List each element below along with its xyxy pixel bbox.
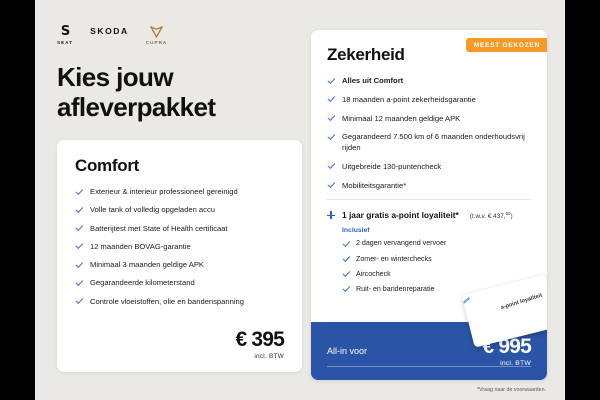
list-item: 18 maanden a-point zekerheidsgarantie — [327, 95, 531, 106]
check-icon — [75, 279, 83, 287]
logo-seat: S SEAT — [57, 25, 73, 45]
feature-text: Batterijtest met State of Health certifi… — [90, 224, 228, 235]
check-icon — [342, 271, 350, 279]
list-item: Mobiliteitsgarantie* — [327, 181, 531, 192]
list-item: Controle vloeistoffen, olie en bandenspa… — [75, 297, 284, 308]
letterbox-left — [0, 0, 35, 400]
logo-skoda: SKODA — [90, 25, 129, 38]
feature-text: 18 maanden a-point zekerheidsgarantie — [342, 95, 476, 106]
comfort-price-block: € 395 incl. BTW — [235, 329, 284, 360]
package-card-comfort[interactable]: Comfort Exterieur & interieur profession… — [57, 140, 302, 372]
status-badge: MEEST GEKOZEN — [466, 38, 547, 52]
plus-icon — [327, 211, 335, 219]
check-icon — [75, 298, 83, 306]
check-icon — [327, 133, 335, 141]
comfort-price: € 395 — [235, 329, 284, 350]
feature-text: Gegarandeerd 7.500 km of 6 maanden onder… — [342, 132, 531, 154]
skoda-mark-icon: SKODA — [90, 25, 129, 38]
check-icon — [327, 115, 335, 123]
feature-text: 2 dagen vervangend vervoer — [356, 239, 446, 249]
check-icon — [75, 243, 83, 251]
list-item: Zomer- en winterchecks — [342, 255, 531, 265]
feature-text: Exterieur & interieur professioneel gere… — [90, 187, 238, 198]
check-icon — [75, 188, 83, 196]
list-item: Alles uit Comfort — [327, 76, 531, 87]
list-item: 2 dagen vervangend vervoer — [342, 239, 531, 249]
feature-text: Minimaal 12 maanden geldige APK — [342, 114, 460, 125]
allin-price-note: incl. BTW — [482, 360, 531, 367]
logo-seat-label: SEAT — [57, 40, 73, 45]
seat-mark-icon: S — [61, 25, 69, 38]
feature-text: Gegarandeerde kilometerstand — [90, 278, 195, 289]
brand-logo-row: S SEAT SKODA CUPRA — [57, 25, 167, 45]
section-divider — [327, 199, 531, 200]
list-item: Volle tank of volledig opgeladen accu — [75, 205, 284, 216]
feature-text: 12 maanden BOVAG-garantie — [90, 242, 191, 253]
feature-text: Aircocheck — [356, 270, 391, 280]
cupra-mark-icon — [150, 25, 163, 38]
allin-label: All-in voor — [327, 346, 367, 356]
check-icon — [75, 225, 83, 233]
comfort-title: Comfort — [75, 156, 284, 176]
feature-text: Mobiliteitsgarantie* — [342, 181, 406, 192]
check-icon — [75, 261, 83, 269]
list-item: 12 maanden BOVAG-garantie — [75, 242, 284, 253]
page-title: Kies jouw afleverpakket — [57, 62, 307, 122]
feature-text: Alles uit Comfort — [342, 76, 403, 87]
feature-text: Controle vloeistoffen, olie en bandenspa… — [90, 297, 244, 308]
feature-text: Volle tank of volledig opgeladen accu — [90, 205, 215, 216]
list-item: Uitgebreide 130-puntencheck — [327, 162, 531, 173]
list-item: Aircocheck — [342, 270, 531, 280]
feature-text: Zomer- en winterchecks — [356, 255, 432, 265]
package-card-zekerheid[interactable]: MEEST GEKOZEN Zekerheid Alles uit Comfor… — [311, 30, 547, 380]
comfort-price-note: incl. BTW — [235, 353, 284, 360]
list-item: Gegarandeerde kilometerstand — [75, 278, 284, 289]
zekerheid-feature-list: Alles uit Comfort 18 maanden a-point zek… — [327, 76, 531, 191]
logo-cupra: CUPRA — [146, 25, 168, 45]
list-item: Batterijtest met State of Health certifi… — [75, 224, 284, 235]
zekerheid-body: Zekerheid Alles uit Comfort 18 maanden a… — [311, 30, 547, 294]
inclusief-label: Inclusief — [342, 227, 531, 234]
footnote-text: *Vraag naar de voorwaarden. — [477, 387, 546, 393]
feature-text: Ruit- en bandenreparatie — [356, 285, 434, 295]
check-icon — [327, 77, 335, 85]
check-icon — [342, 286, 350, 294]
check-icon — [342, 256, 350, 264]
page-canvas: S SEAT SKODA CUPRA Kies jouw afleverpakk… — [35, 0, 565, 400]
feature-text: Minimaal 3 maanden geldige APK — [90, 260, 204, 271]
feature-text: Uitgebreide 130-puntencheck — [342, 162, 441, 173]
check-icon — [327, 96, 335, 104]
list-item: Gegarandeerd 7.500 km of 6 maanden onder… — [327, 132, 531, 154]
loyalty-addon-row: 1 jaar gratis a-point loyaliteit* (t.w.v… — [327, 210, 531, 220]
check-icon — [342, 241, 350, 249]
check-icon — [327, 182, 335, 190]
loyalty-title: 1 jaar gratis a-point loyaliteit* — [342, 210, 459, 220]
check-icon — [75, 206, 83, 214]
list-item: Exterieur & interieur professioneel gere… — [75, 187, 284, 198]
logo-cupra-label: CUPRA — [146, 40, 168, 45]
loyalty-value: (t.w.v. € 437,50) — [470, 211, 513, 220]
list-item: Minimaal 3 maanden geldige APK — [75, 260, 284, 271]
list-item: Minimaal 12 maanden geldige APK — [327, 114, 531, 125]
check-icon — [327, 163, 335, 171]
comfort-feature-list: Exterieur & interieur professioneel gere… — [75, 187, 284, 307]
letterbox-right — [565, 0, 600, 400]
